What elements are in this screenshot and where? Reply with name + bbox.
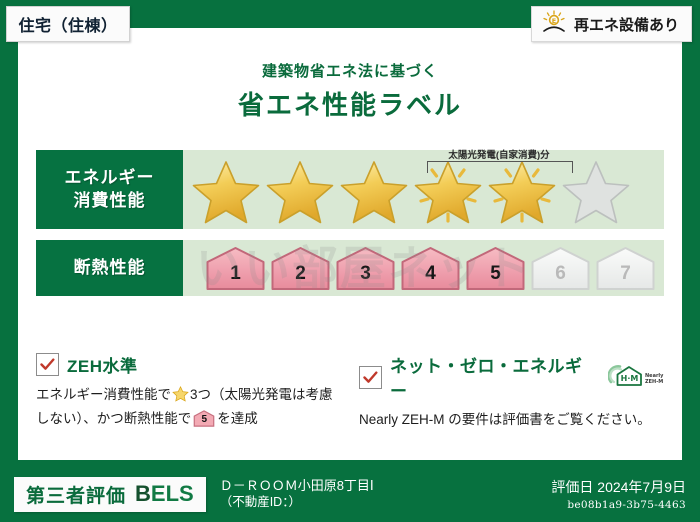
house-level-off: 6 [530, 246, 591, 291]
check-icon [36, 353, 59, 376]
evaluation-date: 評価日 2024年7月9日 [551, 477, 686, 497]
renewable-energy-badge: E 再エネ設備あり [531, 6, 692, 42]
zeh-desc-c: を達成 [217, 411, 258, 426]
bels-letter-b: B [135, 481, 151, 506]
solar-sun-icon: E [541, 10, 567, 39]
star-filled [263, 157, 337, 227]
zeh-desc-a: エネルギー消費性能で [36, 387, 171, 402]
evaluation-info: 評価日 2024年7月9日 be08b1a9-3b75-4463 [551, 477, 686, 511]
svg-text:E: E [552, 17, 556, 25]
label-title: 省エネ性能ラベル [0, 85, 700, 122]
evaluation-date-label: 評価日 [551, 479, 593, 495]
inline-star-icon [172, 386, 189, 409]
insulation-label: 断熱性能 [36, 240, 183, 296]
renewable-badge-label: 再エネ設備あり [574, 14, 679, 35]
house-level-on: 1 [205, 246, 266, 291]
zeh-title: ZEH水準 [67, 352, 138, 377]
star-filled [189, 157, 263, 227]
house-level-number: 5 [465, 263, 526, 285]
netzero-heading: ネット・ゼロ・エネルギー H·M Nearly ZEH-M [359, 352, 664, 402]
property-name: Ｄ－ＲＯＯＭ小田原8丁目Ⅰ [220, 477, 552, 495]
property-info: Ｄ－ＲＯＯＭ小田原8丁目Ⅰ （不動産ID：） [220, 477, 552, 511]
star-filled [337, 157, 411, 227]
house-level-off: 7 [595, 246, 656, 291]
house-level-on: 5 [465, 246, 526, 291]
net-zero-energy-block: ネット・ゼロ・エネルギー H·M Nearly ZEH-M Nearly ZEH… [359, 352, 664, 431]
energy-consumption-row: エネルギー 消費性能 太陽光発電(自家消費)分 [36, 150, 664, 229]
category-badge: 住宅（住棟） [6, 6, 130, 42]
label-title-block: 建築物省エネ法に基づく 省エネ性能ラベル [0, 60, 700, 122]
energy-rating-band: 太陽光発電(自家消費)分 [183, 150, 664, 229]
house-rating-strip: 1234567 [205, 246, 656, 291]
energy-consumption-label: エネルギー 消費性能 [36, 150, 183, 229]
bels-energy-label: 住宅（住棟） E 再エネ設備あり 建築物省エネ法に基づく 省エネ性能ラベル [0, 0, 700, 522]
zeh-m-logo-icon: H·M Nearly ZEH-M [608, 363, 664, 391]
house-level-on: 4 [400, 246, 461, 291]
label-subtitle: 建築物省エネ法に基づく [0, 60, 700, 81]
solar-annotation-label: 太陽光発電(自家消費)分 [425, 147, 573, 161]
bels-jp-label: 第三者評価 [26, 481, 126, 508]
svg-text:H·M: H·M [621, 374, 639, 383]
svg-text:ZEH-M: ZEH-M [645, 379, 663, 385]
house-level-number: 6 [530, 263, 591, 285]
check-icon [359, 366, 382, 389]
netzero-title: ネット・ゼロ・エネルギー [390, 352, 593, 402]
insulation-row: 断熱性能 1234567 [36, 240, 664, 296]
house-level-on: 2 [270, 246, 331, 291]
zeh-description: エネルギー消費性能で3つ（太陽光発電は考慮しない）、かつ断熱性能で5を達成 [36, 385, 341, 430]
energy-label-line2: 消費性能 [74, 190, 146, 212]
bels-badge: 第三者評価 BELS [14, 477, 206, 512]
bels-letters-els: ELS [151, 481, 194, 506]
footer-bar: 第三者評価 BELS Ｄ－ＲＯＯＭ小田原8丁目Ⅰ （不動産ID：） 評価日 20… [0, 466, 700, 522]
criteria-section: ZEH水準 エネルギー消費性能で3つ（太陽光発電は考慮しない）、かつ断熱性能で5… [36, 352, 664, 431]
category-badge-label: 住宅（住棟） [18, 12, 117, 36]
bels-en-label: BELS [135, 481, 194, 507]
solar-annotation: 太陽光発電(自家消費)分 [425, 148, 573, 174]
inline-house-number: 5 [193, 410, 215, 427]
zeh-standard-block: ZEH水準 エネルギー消費性能で3つ（太陽光発電は考慮しない）、かつ断熱性能で5… [36, 352, 341, 431]
energy-label-line1: エネルギー [65, 167, 155, 189]
house-level-number: 7 [595, 263, 656, 285]
property-realestate-id: （不動産ID：） [220, 494, 552, 511]
document-id: be08b1a9-3b75-4463 [551, 499, 686, 511]
performance-rows: エネルギー 消費性能 太陽光発電(自家消費)分 断熱性能 1234567 [36, 150, 664, 307]
house-level-number: 4 [400, 263, 461, 285]
evaluation-date-value: 2024年7月9日 [597, 479, 686, 495]
netzero-description: Nearly ZEH-M の要件は評価書をご覧ください。 [359, 410, 664, 431]
house-level-number: 2 [270, 263, 331, 285]
insulation-label-text: 断熱性能 [74, 257, 146, 279]
house-level-number: 1 [205, 263, 266, 285]
inline-house-badge: 5 [193, 410, 215, 427]
house-level-on: 3 [335, 246, 396, 291]
insulation-rating-band: 1234567 [183, 240, 664, 296]
house-level-number: 3 [335, 263, 396, 285]
solar-annotation-bracket [427, 161, 573, 173]
zeh-heading: ZEH水準 [36, 352, 341, 377]
